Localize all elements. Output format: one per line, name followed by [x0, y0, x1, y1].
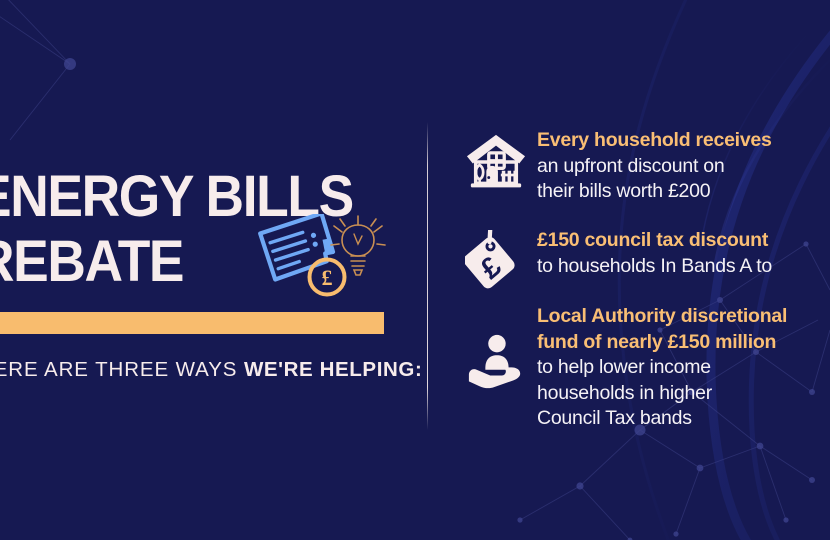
benefit-body-line: to households In Bands A to — [537, 254, 830, 280]
energy-bill-and-lightbulb-illustration: £ — [252, 214, 387, 306]
left-title-panel: ENERGY BILLS REBATE — [0, 0, 400, 540]
vertical-divider — [427, 122, 428, 430]
subtitle-prefix: HERE ARE THREE WAYS — [0, 358, 244, 381]
benefit-text: Local Authority discretional fund of nea… — [537, 303, 830, 432]
accent-bar — [0, 312, 384, 334]
house-icon — [455, 127, 537, 213]
hand-holding-person-icon — [455, 303, 537, 412]
svg-text:£: £ — [322, 265, 333, 290]
benefit-heading: fund of nearly £150 million — [537, 330, 830, 356]
benefit-text: Every household receives an upfront disc… — [537, 127, 830, 205]
benefit-body-line: Council Tax bands — [537, 406, 830, 432]
subtitle-emphasis: WE'RE HELPING: — [244, 358, 422, 381]
benefit-body-line: their bills worth £200 — [537, 179, 830, 205]
benefit-item-household-discount: Every household receives an upfront disc… — [455, 127, 830, 213]
benefit-heading: Every household receives — [537, 128, 830, 154]
benefit-item-local-authority-fund: Local Authority discretional fund of nea… — [455, 303, 830, 432]
benefit-body-line: an upfront discount on — [537, 154, 830, 180]
benefit-text: £150 council tax discount to households … — [537, 227, 830, 279]
energy-bills-rebate-infographic: ENERGY BILLS REBATE — [0, 0, 830, 540]
benefit-heading: Local Authority discretional — [537, 304, 830, 330]
benefit-item-council-tax-discount: £ £150 council tax discount to household… — [455, 227, 830, 310]
benefit-body-line: households in higher — [537, 381, 830, 407]
subtitle: HERE ARE THREE WAYS WE'RE HELPING: — [0, 357, 408, 383]
benefit-body-line: to help lower income — [537, 355, 830, 381]
benefits-list: Every household receives an upfront disc… — [455, 0, 830, 540]
price-tag-pound-icon: £ — [455, 227, 537, 310]
benefit-heading: £150 council tax discount — [537, 228, 830, 254]
